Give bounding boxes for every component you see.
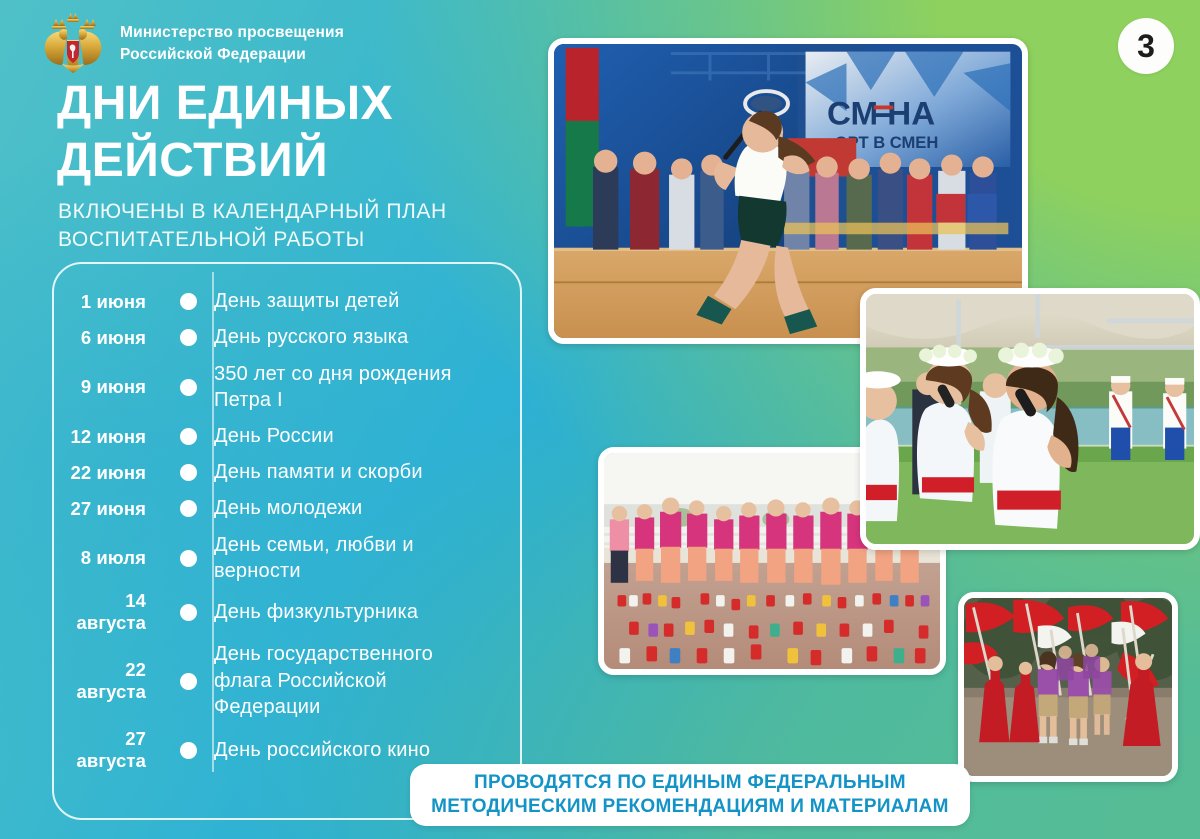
timeline-label: 350 лет со дня рождения Петра I [212,361,522,414]
timeline-dot-icon [180,673,197,690]
ministry-name-label: Министерство просвещения Российской Феде… [120,22,344,66]
timeline-row: 22 июняДень памяти и скорби [52,455,522,490]
timeline-date: 22 июня [52,462,164,484]
timeline-dot-icon [180,464,197,481]
timeline-label: День российского кино [212,737,522,763]
timeline-dot-icon [180,379,197,396]
timeline-dot-cell [164,673,212,690]
timeline-date: 1 июня [52,291,164,313]
timeline-row: 22 августаДень государственного флага Ро… [52,635,522,727]
timeline-row: 8 июляДень семьи, любви и верности [52,527,522,589]
timeline-dot-icon [180,428,197,445]
timeline-dot-icon [180,604,197,621]
timeline-dot-cell [164,464,212,481]
timeline-label: День государственного флага Российской Ф… [212,641,522,720]
timeline-dot-cell [164,379,212,396]
timeline-date: 27 июня [52,498,164,520]
timeline-dot-cell [164,329,212,346]
timeline-dot-cell [164,500,212,517]
singers-photo [860,288,1200,550]
russian-federation-emblem-icon [40,10,106,78]
timeline-list: 1 июняДень защиты детей6 июняДень русско… [52,284,522,773]
timeline-row: 12 июняДень России [52,419,522,454]
timeline-dot-cell [164,293,212,310]
timeline-date: 22 августа [52,659,164,703]
timeline-dot-cell [164,742,212,759]
timeline-row: 6 июняДень русского языка [52,320,522,355]
timeline-dot-cell [164,550,212,567]
timeline-row: 9 июня350 лет со дня рождения Петра I [52,356,522,418]
ministry-branding: Министерство просвещения Российской Феде… [40,10,344,78]
timeline-dot-cell [164,604,212,621]
bottom-banner: ПРОВОДЯТСЯ ПО ЕДИНЫМ ФЕДЕРАЛЬНЫМ МЕТОДИЧ… [410,764,970,826]
timeline-date: 6 июня [52,327,164,349]
timeline-dot-icon [180,742,197,759]
timeline-dot-icon [180,293,197,310]
timeline-date: 9 июня [52,376,164,398]
timeline-label: День русского языка [212,324,522,350]
timeline-label: День молодежи [212,495,522,521]
timeline-date: 14 августа [52,590,164,634]
flag-parade-photo [958,592,1178,782]
timeline-row: 1 июняДень защиты детей [52,284,522,319]
timeline-label: День физкультурника [212,599,522,625]
timeline-label: День России [212,423,522,449]
timeline-label: День памяти и скорби [212,459,522,485]
timeline-date: 27 августа [52,728,164,772]
bottom-banner-text: ПРОВОДЯТСЯ ПО ЕДИНЫМ ФЕДЕРАЛЬНЫМ МЕТОДИЧ… [431,771,949,819]
slide-root: Министерство просвещения Российской Феде… [0,0,1200,839]
timeline-dot-icon [180,550,197,567]
timeline-row: 27 июняДень молодежи [52,491,522,526]
page-number-badge: 3 [1118,18,1174,74]
timeline-label: День защиты детей [212,288,522,314]
timeline-label: День семьи, любви и верности [212,532,522,585]
timeline-date: 8 июля [52,547,164,569]
timeline-dot-icon [180,329,197,346]
timeline-row: 14 августаДень физкультурника [52,590,522,634]
timeline-dot-icon [180,500,197,517]
timeline-date: 12 июня [52,426,164,448]
page-subtitle: ВКЛЮЧЕНЫ В КАЛЕНДАРНЫЙ ПЛАН ВОСПИТАТЕЛЬН… [58,198,538,254]
timeline-dot-cell [164,428,212,445]
page-title: ДНИ ЕДИНЫХ ДЕЙСТВИЙ [57,76,527,189]
